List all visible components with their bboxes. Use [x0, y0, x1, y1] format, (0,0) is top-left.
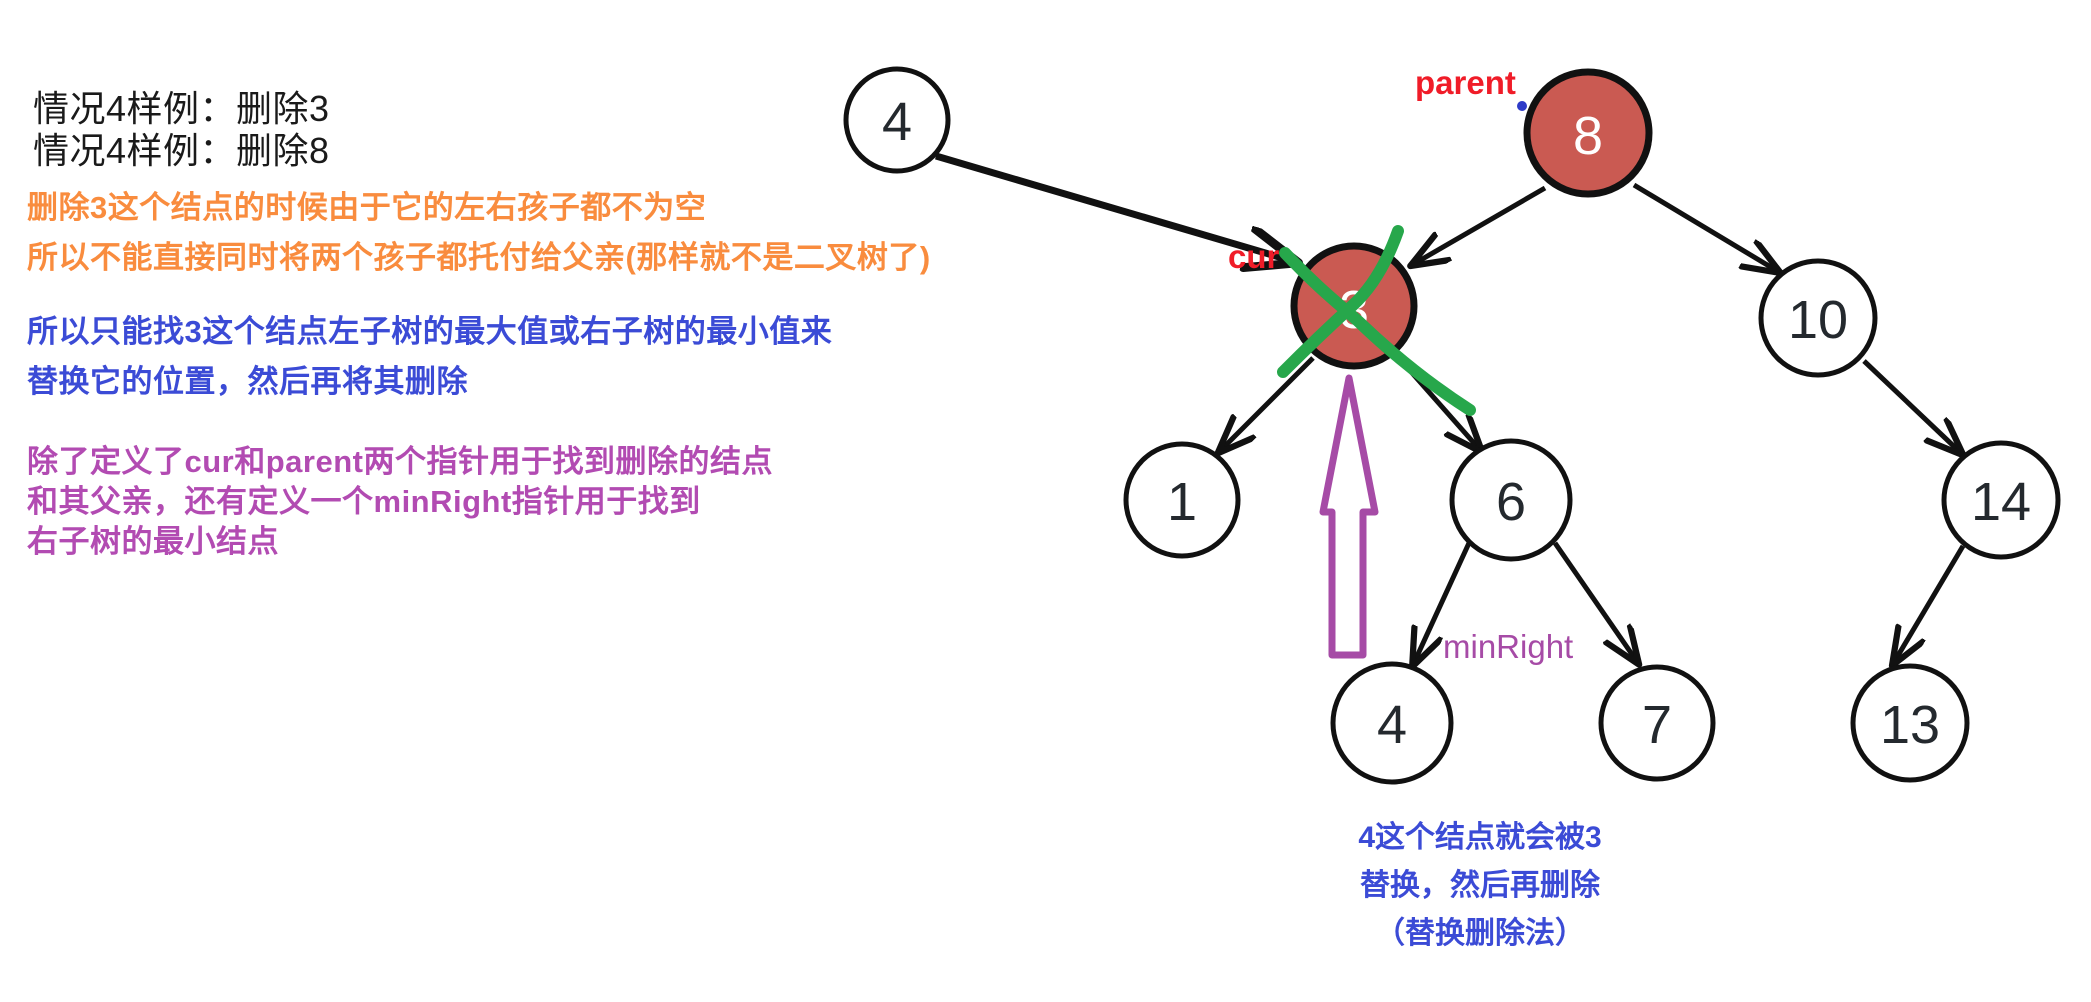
tree-node-10[interactable]: 10 — [1761, 261, 1875, 375]
pointer-label-cur: cur — [1228, 238, 1280, 275]
tree-node-label: 13 — [1880, 695, 1940, 755]
edge-10-to-14 — [1864, 361, 1962, 454]
tree-node-4-bottom[interactable]: 4 — [1333, 664, 1451, 782]
tree-node-1[interactable]: 1 — [1126, 444, 1238, 556]
pointer-label-parent: parent — [1415, 64, 1516, 101]
tree-node-6[interactable]: 6 — [1452, 441, 1570, 559]
tree-node-label: 8 — [1573, 106, 1603, 166]
tree-node-14[interactable]: 14 — [1944, 443, 2058, 557]
tree-node-8[interactable]: 8 — [1527, 72, 1649, 194]
tree-node-label: 14 — [1971, 472, 2031, 532]
tree-edges — [936, 156, 1963, 665]
parent-pointer-dot-icon — [1517, 101, 1527, 111]
purple-replacement-arrow-icon — [1323, 378, 1375, 655]
tree-node-label: 10 — [1788, 290, 1848, 350]
pointer-label-minright: minRight — [1443, 628, 1573, 665]
tree-node-label: 7 — [1642, 695, 1672, 755]
tree-node-7[interactable]: 7 — [1601, 667, 1713, 779]
bottom-caption-line-1: 4这个结点就会被3 — [1340, 812, 1620, 856]
edge-14-to-13 — [1893, 546, 1963, 664]
tree-node-label: 1 — [1167, 472, 1197, 532]
edge-3-to-1 — [1219, 358, 1313, 452]
edge-8-to-3 — [1412, 188, 1545, 265]
tree-node-label: 4 — [882, 92, 912, 152]
tree-node-label: 4 — [1377, 695, 1407, 755]
tree-node-4-top[interactable]: 4 — [846, 69, 948, 171]
bottom-caption-line-3: （替换删除法） — [1340, 908, 1620, 952]
tree-node-label: 6 — [1496, 472, 1526, 532]
whiteboard-canvas: 情况4样例：删除3 情况4样例：删除8 删除3这个结点的时候由于它的左右孩子都不… — [0, 0, 2091, 1002]
binary-search-tree-diagram: 4 8 3 10 1 6 14 4 — [0, 0, 2091, 1002]
bottom-caption-line-2: 替换，然后再删除 — [1340, 860, 1620, 904]
edge-8-to-10 — [1634, 185, 1779, 272]
tree-node-13[interactable]: 13 — [1853, 666, 1967, 780]
